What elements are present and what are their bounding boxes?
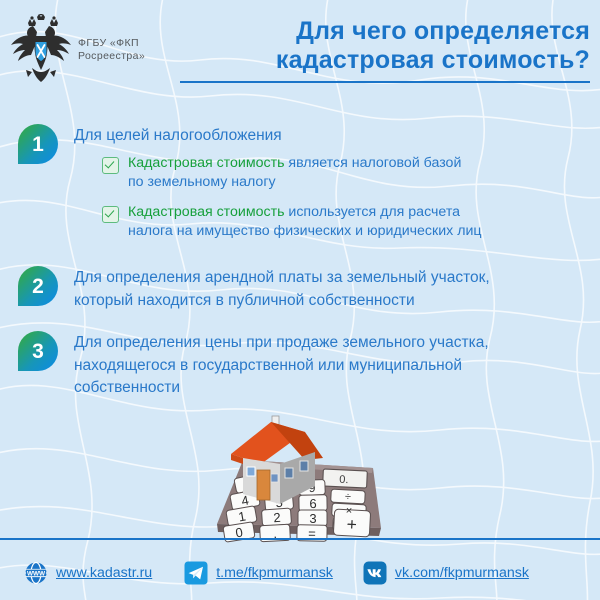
title-underline-rule bbox=[180, 81, 590, 83]
footer-link-telegram[interactable]: t.me/fkpmurmansk bbox=[184, 561, 333, 585]
svg-text:÷: ÷ bbox=[345, 491, 352, 503]
footer-link-telegram-label: t.me/fkpmurmansk bbox=[216, 565, 333, 581]
sub-item: Кадастровая стоимость является налоговой… bbox=[102, 154, 586, 192]
organization-name: ФГБУ «ФКП Росреестра» bbox=[78, 37, 145, 63]
item-title-3-line-2: находящегося в государственной или муниц… bbox=[74, 356, 586, 377]
svg-text:0.: 0. bbox=[339, 474, 349, 486]
svg-text:6: 6 bbox=[309, 496, 316, 511]
item-title-2-line-1: Для определения арендной платы за земель… bbox=[74, 268, 586, 289]
item-title-3-line-3: собственности bbox=[74, 378, 586, 399]
footer-divider-rule bbox=[0, 538, 600, 540]
item-number-badge-2: 2 bbox=[18, 266, 58, 306]
item-title-2-line-2: который находится в публичной собственно… bbox=[74, 291, 586, 312]
sub-rest-text-line-2: по земельному налогу bbox=[128, 174, 276, 190]
sub-item-text: Кадастровая стоимость является налоговой… bbox=[128, 154, 461, 192]
double-headed-eagle-emblem-icon bbox=[8, 14, 74, 86]
item-body-3: Для определения цены при продаже земельн… bbox=[74, 331, 600, 401]
list-item: 3 Для определения цены при продаже земел… bbox=[0, 331, 600, 401]
item-number-badge-1: 1 bbox=[18, 124, 58, 164]
svg-text:2: 2 bbox=[273, 510, 281, 525]
numbered-items-list: 1 Для целей налогообложения Кадастровая … bbox=[0, 124, 600, 415]
footer-link-vk[interactable]: vk.com/fkpmurmansk bbox=[363, 561, 529, 585]
org-name-line-1: ФГБУ «ФКП bbox=[78, 37, 145, 50]
www-globe-icon: WWW bbox=[24, 561, 48, 585]
svg-text:WWW: WWW bbox=[27, 570, 46, 577]
item-number-badge-3: 3 bbox=[18, 331, 58, 371]
svg-text:3: 3 bbox=[309, 511, 316, 526]
list-item: 1 Для целей налогообложения Кадастровая … bbox=[0, 124, 600, 252]
checkbox-checked-icon bbox=[102, 206, 119, 223]
footer-link-website-label: www.kadastr.ru bbox=[56, 565, 152, 581]
poster-footer: WWW www.kadastr.ru t.me/fkpmurmansk vk.c… bbox=[0, 546, 600, 600]
item-body-2: Для определения арендной платы за земель… bbox=[74, 266, 600, 313]
telegram-icon bbox=[184, 561, 208, 585]
item-body-1: Для целей налогообложения Кадастровая ст… bbox=[74, 124, 600, 252]
sub-rest-text-line-1: используется для расчета bbox=[284, 204, 460, 220]
sub-item: Кадастровая стоимость используется для р… bbox=[102, 203, 586, 241]
footer-link-website[interactable]: WWW www.kadastr.ru bbox=[24, 561, 152, 585]
checkbox-checked-icon bbox=[102, 157, 119, 174]
item-title-1: Для целей налогообложения bbox=[74, 126, 586, 146]
poster-header: ФГБУ «ФКП Росреестра» Для чего определяе… bbox=[0, 0, 600, 100]
sub-item-text: Кадастровая стоимость используется для р… bbox=[128, 203, 482, 241]
footer-link-vk-label: vk.com/fkpmurmansk bbox=[395, 565, 529, 581]
org-name-line-2: Росреестра» bbox=[78, 50, 145, 63]
svg-text:+: + bbox=[346, 515, 357, 534]
sub-highlight-text: Кадастровая стоимость bbox=[128, 204, 284, 220]
list-item: 2 Для определения арендной платы за земе… bbox=[0, 266, 600, 313]
infographic-poster: ФГБУ «ФКП Росреестра» Для чего определяе… bbox=[0, 0, 600, 600]
item-sub-list-1: Кадастровая стоимость является налоговой… bbox=[74, 154, 586, 241]
title-line-1: Для чего определяется bbox=[180, 17, 590, 46]
sub-rest-text-line-2: налога на имущество физических и юридиче… bbox=[128, 223, 482, 239]
sub-highlight-text: Кадастровая стоимость bbox=[128, 155, 284, 171]
house-on-calculator-illustration: 0. 7 8 9 4 5 6 bbox=[205, 412, 390, 547]
sub-rest-text-line-1: является налоговой базой bbox=[284, 155, 461, 171]
item-title-3-line-1: Для определения цены при продаже земельн… bbox=[74, 333, 586, 354]
poster-title: Для чего определяется кадастровая стоимо… bbox=[180, 17, 600, 83]
title-line-2: кадастровая стоимость? bbox=[180, 46, 590, 75]
vk-icon bbox=[363, 561, 387, 585]
organization-logo-block: ФГБУ «ФКП Росреестра» bbox=[8, 14, 180, 86]
